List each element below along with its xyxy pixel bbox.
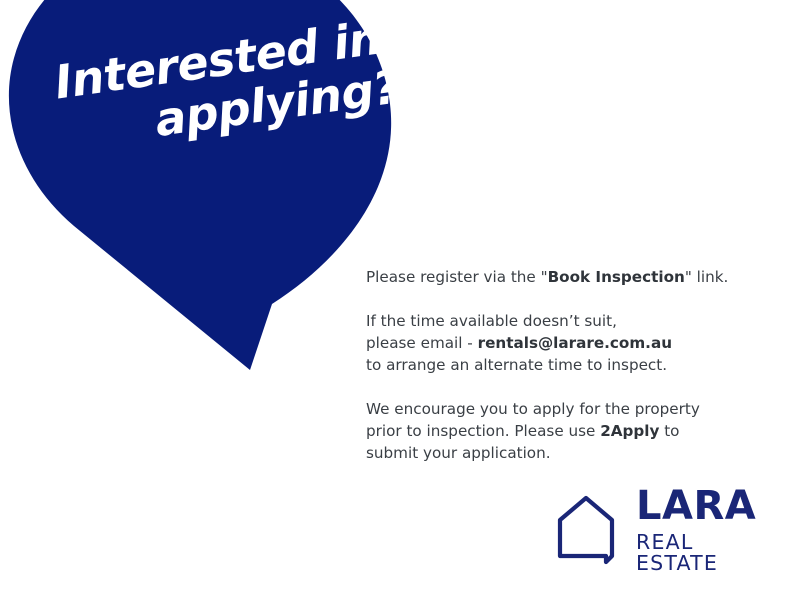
pin-callout-shape: [0, 0, 400, 378]
body-copy: Please register via the "Book Inspection…: [366, 266, 766, 464]
house-outline-path: [560, 498, 612, 562]
paragraph-apply: We encourage you to apply for the proper…: [366, 398, 766, 464]
body-text: Please register via the ": [366, 268, 548, 286]
paragraph-email: If the time available doesn’t suit, plea…: [366, 310, 766, 376]
house-outline-icon: [556, 494, 616, 566]
logo-wordmark: LARA REAL ESTATE: [636, 487, 778, 573]
promo-graphic-page: Interested in applying? Please register …: [0, 0, 800, 600]
lara-real-estate-logo: LARA REAL ESTATE: [556, 492, 778, 568]
logo-tagline: REAL ESTATE: [636, 532, 778, 573]
body-text: " link.: [685, 268, 729, 286]
emphasis-text: rentals@larare.com.au: [478, 334, 672, 352]
emphasis-text: 2Apply: [600, 422, 659, 440]
emphasis-text: Book Inspection: [548, 268, 685, 286]
logo-name: LARA: [636, 487, 778, 525]
paragraph-register: Please register via the "Book Inspection…: [366, 266, 766, 288]
pin-shape-path: [9, 0, 391, 370]
body-text: to arrange an alternate time to inspect.: [366, 356, 667, 374]
